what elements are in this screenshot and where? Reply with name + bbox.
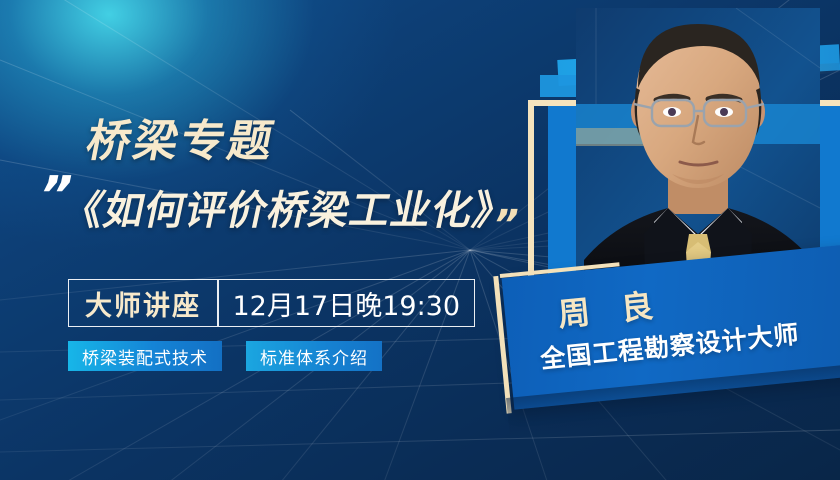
- topic-tag: 桥梁装配式技术: [68, 341, 222, 371]
- poster-subtitle: 《如何评价桥梁工业化》: [58, 178, 521, 236]
- lecture-kind-label: 大师讲座: [69, 280, 217, 326]
- lecture-info-bar: 大师讲座 12月17日晚19:30: [68, 279, 475, 327]
- topic-tag-list: 桥梁装配式技术 标准体系介绍: [68, 341, 382, 371]
- lecture-datetime-label: 12月17日晚19:30: [219, 280, 475, 326]
- topic-tag: 标准体系介绍: [246, 341, 382, 371]
- lecture-poster: 桥梁专题 ” 《如何评价桥梁工业化》 ” 大师讲座 12月17日晚19:30 桥…: [0, 0, 840, 480]
- poster-main-title: 桥梁专题: [82, 105, 282, 169]
